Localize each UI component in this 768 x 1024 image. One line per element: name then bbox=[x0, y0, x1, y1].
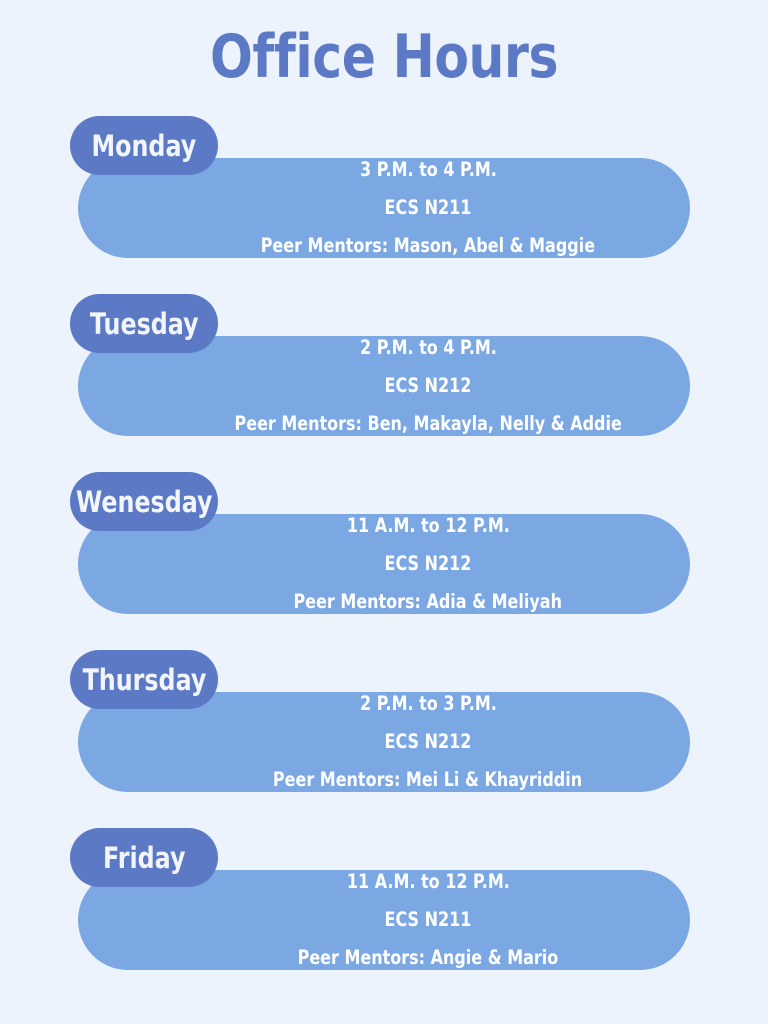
day-card-details: 3 P.M. to 4 P.M. ECS N211 Peer Mentors: … bbox=[208, 158, 648, 258]
page-title: Office Hours bbox=[61, 17, 706, 97]
office-hours-time: 2 P.M. to 3 P.M. bbox=[360, 685, 497, 723]
office-hours-time: 11 A.M. to 12 P.M. bbox=[346, 863, 509, 901]
day-label: Thursday bbox=[82, 665, 206, 695]
office-hours-mentors: Peer Mentors: Ben, Makayla, Nelly & Addi… bbox=[234, 405, 621, 443]
day-pill-wednesday: Wenesday bbox=[70, 472, 218, 531]
schedule-row-thursday: 2 P.M. to 3 P.M. ECS N212 Peer Mentors: … bbox=[0, 650, 768, 828]
day-pill-thursday: Thursday bbox=[70, 650, 218, 709]
day-card-details: 11 A.M. to 12 P.M. ECS N212 Peer Mentors… bbox=[208, 514, 648, 614]
office-hours-time: 2 P.M. to 4 P.M. bbox=[360, 329, 497, 367]
office-hours-mentors: Peer Mentors: Mei Li & Khayriddin bbox=[273, 761, 582, 799]
office-hours-mentors: Peer Mentors: Angie & Mario bbox=[298, 939, 559, 977]
day-pill-friday: Friday bbox=[70, 828, 218, 887]
day-pill-tuesday: Tuesday bbox=[70, 294, 218, 353]
office-hours-room: ECS N212 bbox=[385, 723, 472, 761]
office-hours-room: ECS N212 bbox=[385, 545, 472, 583]
office-hours-room: ECS N212 bbox=[385, 367, 472, 405]
schedule-row-tuesday: 2 P.M. to 4 P.M. ECS N212 Peer Mentors: … bbox=[0, 294, 768, 472]
schedule-row-wednesday: 11 A.M. to 12 P.M. ECS N212 Peer Mentors… bbox=[0, 472, 768, 650]
office-hours-mentors: Peer Mentors: Mason, Abel & Maggie bbox=[261, 227, 595, 265]
day-label: Monday bbox=[92, 131, 197, 161]
day-pill-monday: Monday bbox=[70, 116, 218, 175]
schedule-row-monday: 3 P.M. to 4 P.M. ECS N211 Peer Mentors: … bbox=[0, 116, 768, 294]
day-card-details: 2 P.M. to 4 P.M. ECS N212 Peer Mentors: … bbox=[208, 336, 648, 436]
day-label: Friday bbox=[103, 843, 185, 873]
office-hours-time: 11 A.M. to 12 P.M. bbox=[346, 507, 509, 545]
day-card-details: 11 A.M. to 12 P.M. ECS N211 Peer Mentors… bbox=[208, 870, 648, 970]
schedule-row-friday: 11 A.M. to 12 P.M. ECS N211 Peer Mentors… bbox=[0, 828, 768, 1006]
office-hours-mentors: Peer Mentors: Adia & Meliyah bbox=[294, 583, 562, 621]
office-hours-poster: Office Hours 3 P.M. to 4 P.M. ECS N211 P… bbox=[0, 0, 768, 1024]
day-label: Tuesday bbox=[90, 309, 199, 339]
day-card-details: 2 P.M. to 3 P.M. ECS N212 Peer Mentors: … bbox=[208, 692, 648, 792]
office-hours-room: ECS N211 bbox=[385, 189, 472, 227]
office-hours-time: 3 P.M. to 4 P.M. bbox=[360, 151, 497, 189]
office-hours-room: ECS N211 bbox=[385, 901, 472, 939]
schedule-list: 3 P.M. to 4 P.M. ECS N211 Peer Mentors: … bbox=[0, 116, 768, 1006]
day-label: Wenesday bbox=[76, 487, 213, 517]
